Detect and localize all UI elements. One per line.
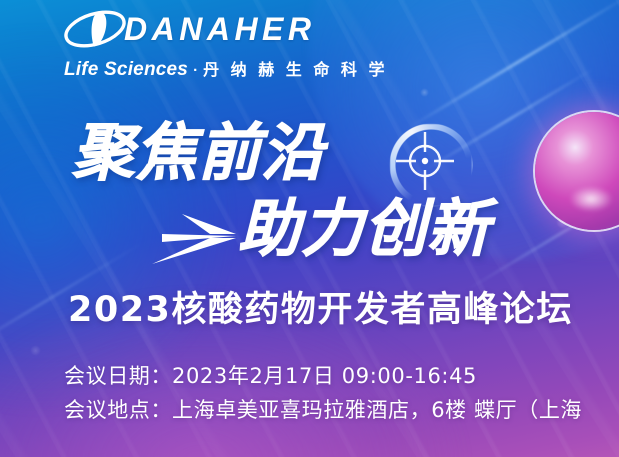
- danaher-logo: DANAHER Life Sciences · 丹 纳 赫 生 命 科 学: [62, 8, 388, 81]
- pink-sphere-highlight: [569, 186, 613, 212]
- event-venue-line: 会议地点：上海卓美亚喜玛拉雅酒店，6楼 蝶厅（上海: [64, 397, 582, 423]
- headline-line-1: 聚焦前沿: [72, 122, 324, 184]
- danaher-ellipse-d-mark: [62, 8, 128, 50]
- bokeh-dot: [556, 215, 570, 229]
- event-poster: DANAHER Life Sciences · 丹 纳 赫 生 命 科 学 聚焦…: [0, 0, 619, 457]
- logo-subline: Life Sciences · 丹 纳 赫 生 命 科 学: [64, 56, 388, 81]
- logo-wordmark: DANAHER: [124, 13, 316, 45]
- forward-arrow-icon: [152, 212, 238, 268]
- bokeh-dot: [420, 88, 429, 97]
- event-date-line: 会议日期：2023年2月17日 09:00-16:45: [64, 363, 582, 389]
- bright-streak: [407, 0, 619, 130]
- logo-sub-english: Life Sciences: [64, 59, 188, 81]
- logo-sub-chinese: 丹 纳 赫 生 命 科 学: [203, 56, 387, 80]
- logo-sub-separator: ·: [193, 62, 198, 79]
- crosshair-target-icon: [394, 130, 456, 192]
- event-info-block: 会议日期：2023年2月17日 09:00-16:45 会议地点：上海卓美亚喜玛…: [64, 363, 582, 424]
- bokeh-dot: [30, 345, 41, 356]
- event-subtitle: 2023核酸药物开发者高峰论坛: [68, 293, 573, 328]
- logo-primary-row: DANAHER: [62, 8, 316, 50]
- pink-sphere-graphic: [535, 112, 619, 230]
- headline-line-2: 助力创新: [238, 198, 490, 260]
